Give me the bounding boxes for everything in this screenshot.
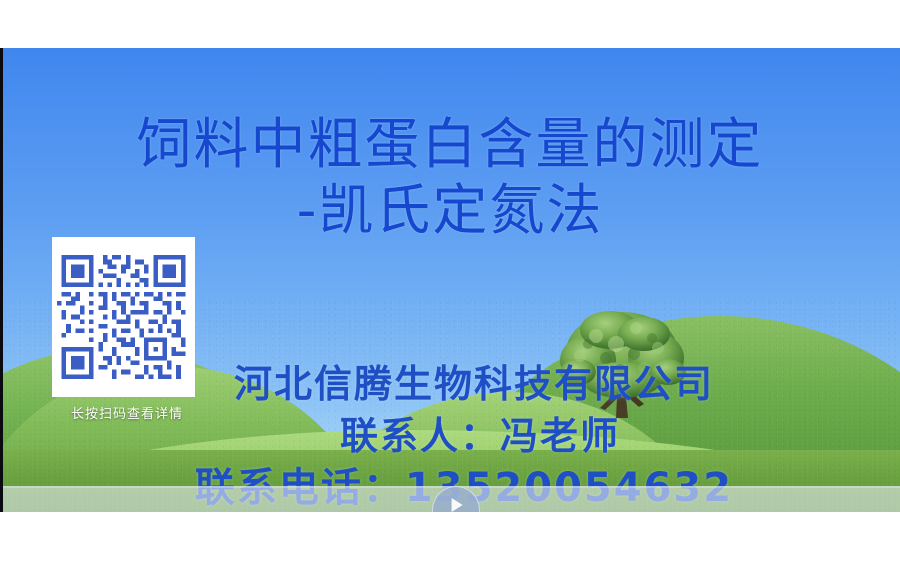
qr-code-icon[interactable]: [57, 242, 190, 392]
play-triangle: [452, 498, 463, 512]
tree-icon: [548, 310, 698, 428]
left-edge-strip: [0, 48, 3, 512]
qr-code-card[interactable]: [52, 237, 195, 397]
page-root: 饲料中粗蛋白含量的测定 -凯氏定氮法: [0, 0, 900, 561]
video-player[interactable]: 饲料中粗蛋白含量的测定 -凯氏定氮法: [0, 48, 900, 512]
qr-caption: 长按扫码查看详情: [52, 403, 202, 422]
